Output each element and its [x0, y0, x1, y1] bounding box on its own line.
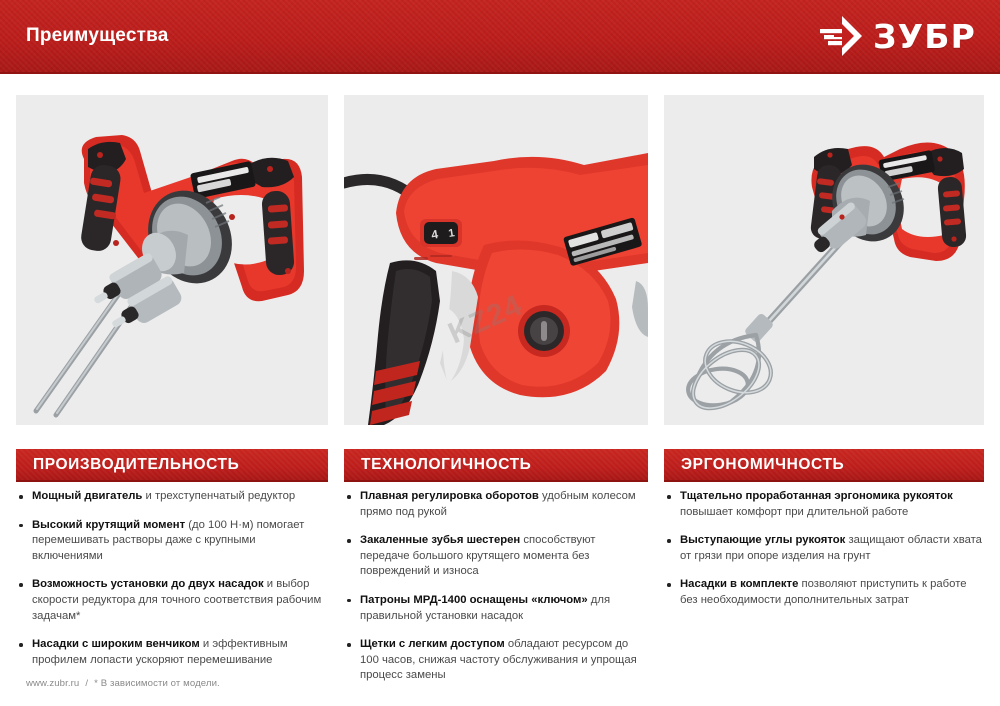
zubr-arrow-diamond-icon	[818, 14, 864, 58]
feature-bullet-strong: Щетки с легким доступом	[360, 638, 505, 650]
section-header-bar-row: ПРОИЗВОДИТЕЛЬНОСТЬ ТЕХНОЛОГИЧНОСТЬ ЭРГОН…	[16, 449, 984, 482]
feature-column-performance: Мощный двигатель и трехступенчатый редук…	[16, 489, 328, 654]
footer-note: * В зависимости от модели.	[94, 678, 220, 689]
feature-column-ergonomics: Тщательно проработанная эргономика рукоя…	[664, 489, 984, 654]
feature-bullet-strong: Патроны МРД-1400 оснащены «ключом»	[360, 594, 588, 606]
feature-bullet-rest: и трехступенчатый редуктор	[142, 490, 295, 502]
feature-bullet-strong: Тщательно проработанная эргономика рукоя…	[680, 490, 953, 502]
section-title: ЭРГОНОМИЧНОСТЬ	[664, 456, 844, 474]
feature-bullet: Закаленные зубья шестерен способствуют п…	[344, 533, 648, 580]
feature-bullet: Высокий крутящий момент (до 100 Н·м) пом…	[16, 518, 328, 565]
product-photo-row: 4 1	[16, 95, 984, 425]
section-header-ergonomics: ЭРГОНОМИЧНОСТЬ	[664, 449, 984, 482]
feature-bullet: Тщательно проработанная эргономика рукоя…	[664, 489, 984, 520]
section-title: ПРОИЗВОДИТЕЛЬНОСТЬ	[16, 456, 239, 474]
page-header: Преимущества ЗУБР	[0, 0, 1000, 74]
feature-bullet-strong: Закаленные зубья шестерен	[360, 534, 520, 546]
feature-bullet-strong: Плавная регулировка оборотов	[360, 490, 539, 502]
feature-bullet-strong: Возможность установки до двух насадок	[32, 578, 264, 590]
page-footer: www.zubr.ru/* В зависимости от модели.	[26, 678, 220, 689]
product-photo-speed-control-closeup: 4 1	[344, 95, 648, 425]
feature-bullet: Выступающие углы рукояток защищают облас…	[664, 533, 984, 564]
feature-bullet-rest: повышает комфорт при длительной работе	[680, 506, 908, 518]
product-photo-mixer-with-whisk	[664, 95, 984, 425]
section-header-technology: ТЕХНОЛОГИЧНОСТЬ	[344, 449, 648, 482]
feature-bullet: Патроны МРД-1400 оснащены «ключом» для п…	[344, 593, 648, 624]
brand-wordmark: ЗУБР	[873, 20, 976, 53]
advantages-page: Преимущества ЗУБР	[0, 0, 1000, 706]
footer-separator: /	[79, 678, 94, 689]
feature-bullet: Мощный двигатель и трехступенчатый редук…	[16, 489, 328, 505]
feature-bullet-strong: Выступающие углы рукояток	[680, 534, 845, 546]
feature-bullet-strong: Мощный двигатель	[32, 490, 142, 502]
feature-bullet: Плавная регулировка оборотов удобным кол…	[344, 489, 648, 520]
feature-bullet: Возможность установки до двух насадок и …	[16, 577, 328, 624]
feature-bullet: Насадки с широким венчиком и эффективным…	[16, 637, 328, 668]
section-header-performance: ПРОИЗВОДИТЕЛЬНОСТЬ	[16, 449, 328, 482]
feature-bullet-strong: Насадки с широким венчиком	[32, 638, 200, 650]
brand-logo[interactable]: ЗУБР	[818, 14, 976, 58]
feature-bullet-strong: Насадки в комплекте	[680, 578, 798, 590]
product-photo-mixer-twin-paddles	[16, 95, 328, 425]
feature-column-technology: Плавная регулировка оборотов удобным кол…	[344, 489, 648, 654]
page-title: Преимущества	[26, 25, 169, 47]
feature-bullet: Щетки с легким доступом обладают ресурсо…	[344, 637, 648, 684]
feature-columns: Мощный двигатель и трехступенчатый редук…	[16, 489, 984, 654]
footer-site-link[interactable]: www.zubr.ru	[26, 678, 79, 689]
feature-bullet-strong: Высокий крутящий момент	[32, 519, 185, 531]
section-title: ТЕХНОЛОГИЧНОСТЬ	[344, 456, 531, 474]
feature-bullet: Насадки в комплекте позволяют приступить…	[664, 577, 984, 608]
